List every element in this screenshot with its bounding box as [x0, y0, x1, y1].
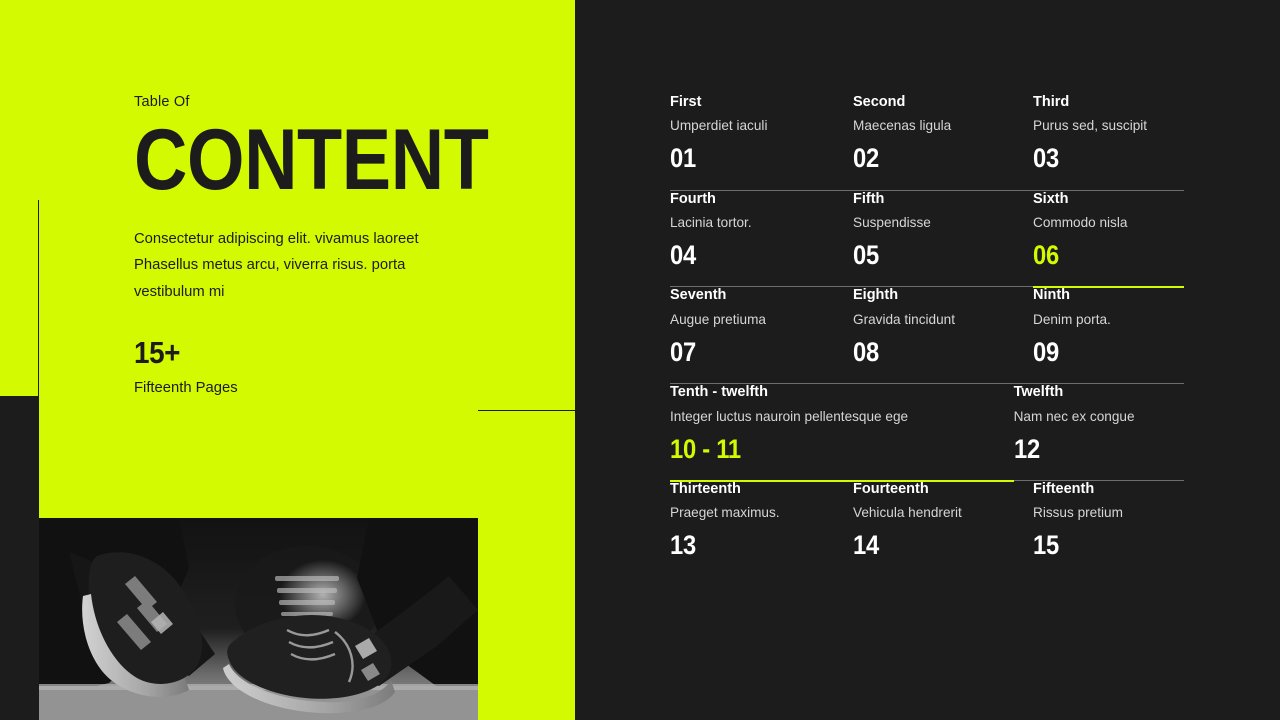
toc-item-title: Fourteenth [853, 481, 1033, 498]
toc-item-title: Fifth [853, 191, 1033, 208]
left-content: Table Of CONTENT Consectetur adipiscing … [134, 94, 534, 396]
toc-item-title: Tenth - twelfth [670, 384, 1014, 401]
toc-item-number: 15 [1033, 531, 1166, 559]
toc-item-title: Sixth [1033, 191, 1184, 208]
eyebrow-label: Table Of [134, 94, 534, 110]
sneakers-photo [39, 518, 478, 720]
left-panel: Table Of CONTENT Consectetur adipiscing … [0, 0, 575, 720]
toc-row: FourthLacinia tortor.04FifthSuspendisse0… [670, 191, 1184, 288]
toc-item-title: Fifteenth [1033, 481, 1184, 498]
toc-item-number: 03 [1033, 144, 1166, 172]
toc-row: Tenth - twelfthInteger luctus nauroin pe… [670, 384, 1184, 481]
toc-item-title: Second [853, 94, 1033, 111]
toc-row: ThirteenthPraeget maximus.13FourteenthVe… [670, 481, 1184, 578]
toc-item-title: Fourth [670, 191, 853, 208]
toc-item-number: 07 [670, 338, 831, 366]
toc-item-description: Gravida tincidunt [853, 312, 1033, 329]
toc-item-description: Maecenas ligula [853, 118, 1033, 135]
toc-item-title: First [670, 94, 853, 111]
toc-item-05[interactable]: FifthSuspendisse05 [853, 191, 1033, 288]
toc-item-13[interactable]: ThirteenthPraeget maximus.13 [670, 481, 853, 578]
toc-item-number: 02 [853, 144, 1011, 172]
toc-item-03[interactable]: ThirdPurus sed, suscipit03 [1033, 94, 1184, 191]
toc-item-number: 10 - 11 [670, 435, 972, 463]
toc-item-07[interactable]: SeventhAugue pretiuma07 [670, 287, 853, 384]
toc-item-number: 06 [1033, 241, 1166, 269]
toc-item-number: 09 [1033, 338, 1166, 366]
toc-item-number: 14 [853, 531, 1011, 559]
toc-item-description: Lacinia tortor. [670, 215, 853, 232]
toc-item-number: 05 [853, 241, 1011, 269]
toc-item-06[interactable]: SixthCommodo nisla06 [1033, 191, 1184, 288]
toc-item-description: Commodo nisla [1033, 215, 1184, 232]
stat-number: 15+ [134, 335, 494, 371]
corner-accent-block [0, 396, 39, 720]
toc-item-15[interactable]: FifteenthRissus pretium15 [1033, 481, 1184, 578]
toc-item-title: Ninth [1033, 287, 1184, 304]
toc-item-description: Augue pretiuma [670, 312, 853, 329]
sneakers-photo-graphic [39, 518, 478, 720]
toc-item-description: Rissus pretium [1033, 505, 1184, 522]
toc-item-title: Seventh [670, 287, 853, 304]
toc-item-description: Nam nec ex congue [1014, 409, 1184, 426]
right-panel: FirstUmperdiet iaculi01SecondMaecenas li… [575, 0, 1280, 720]
toc-item-description: Suspendisse [853, 215, 1033, 232]
toc-item-title: Third [1033, 94, 1184, 111]
toc-item-01[interactable]: FirstUmperdiet iaculi01 [670, 94, 853, 191]
toc-row: SeventhAugue pretiuma07EighthGravida tin… [670, 287, 1184, 384]
toc-item-number: 04 [670, 241, 831, 269]
toc-row: FirstUmperdiet iaculi01SecondMaecenas li… [670, 94, 1184, 191]
toc-item-02[interactable]: SecondMaecenas ligula02 [853, 94, 1033, 191]
toc-item-14[interactable]: FourteenthVehicula hendrerit14 [853, 481, 1033, 578]
stat-label: Fifteenth Pages [134, 380, 534, 396]
toc-item-description: Purus sed, suscipit [1033, 118, 1184, 135]
toc-item-number: 08 [853, 338, 1011, 366]
toc-item-description: Integer luctus nauroin pellentesque ege [670, 409, 1014, 426]
toc-item-number: 01 [670, 144, 831, 172]
toc-item-09[interactable]: NinthDenim porta.09 [1033, 287, 1184, 384]
toc-item-number: 12 [1014, 435, 1164, 463]
horizontal-rule [478, 410, 575, 411]
page-title: CONTENT [134, 124, 478, 198]
toc-item-12[interactable]: TwelfthNam nec ex congue12 [1014, 384, 1184, 481]
slide: Table Of CONTENT Consectetur adipiscing … [0, 0, 1280, 720]
toc-item-number: 13 [670, 531, 831, 559]
toc-item-10-11[interactable]: Tenth - twelfthInteger luctus nauroin pe… [670, 384, 1014, 481]
vertical-rule [38, 200, 39, 520]
table-of-contents: FirstUmperdiet iaculi01SecondMaecenas li… [670, 94, 1184, 578]
toc-item-description: Umperdiet iaculi [670, 118, 853, 135]
toc-item-title: Twelfth [1014, 384, 1184, 401]
lead-paragraph: Consectetur adipiscing elit. vivamus lao… [134, 226, 464, 305]
toc-item-description: Denim porta. [1033, 312, 1184, 329]
toc-item-description: Vehicula hendrerit [853, 505, 1033, 522]
toc-item-description: Praeget maximus. [670, 505, 853, 522]
toc-item-title: Thirteenth [670, 481, 853, 498]
toc-item-08[interactable]: EighthGravida tincidunt08 [853, 287, 1033, 384]
toc-item-title: Eighth [853, 287, 1033, 304]
toc-item-04[interactable]: FourthLacinia tortor.04 [670, 191, 853, 288]
